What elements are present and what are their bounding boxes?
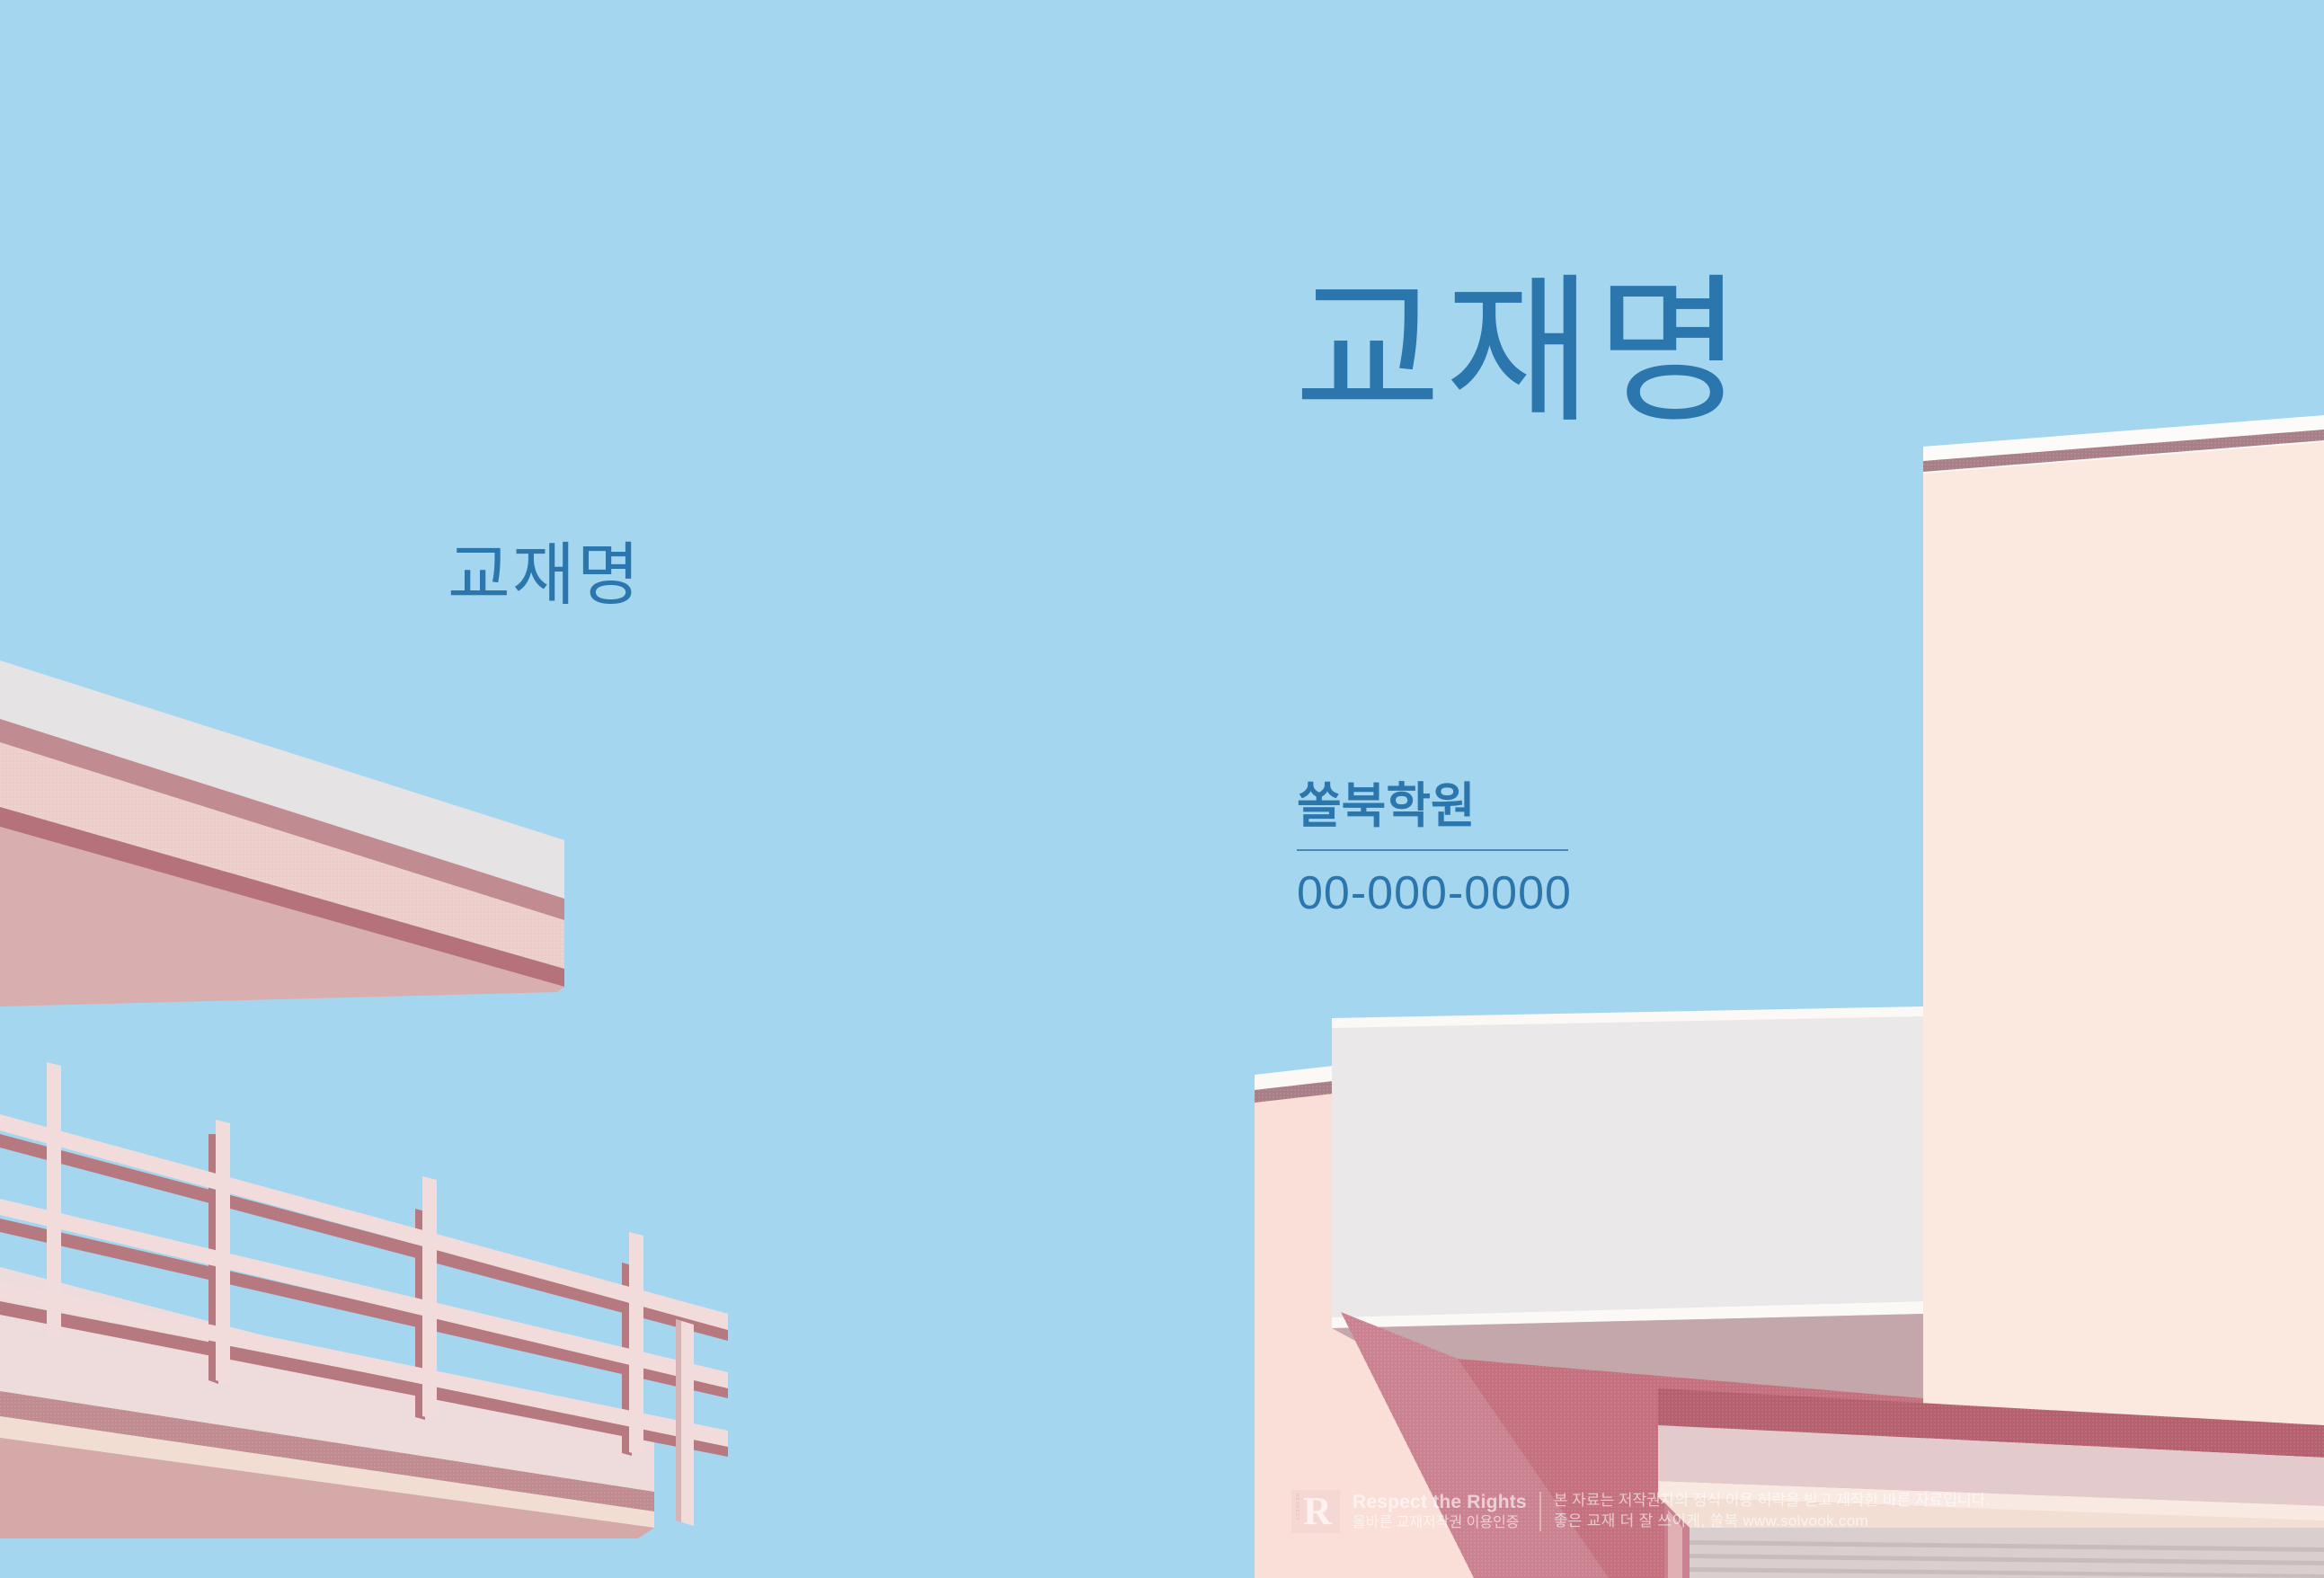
- watermark-desc-line1: 본 자료는 저작권자의 정식 이용 허락을 받고 제작한 바른 자료입니다.: [1554, 1491, 1990, 1512]
- copyright-watermark: RESPECT R Respect the Rights 올바른 교재저작권 이…: [1291, 1490, 1990, 1533]
- watermark-brand: Respect the Rights 올바른 교재저작권 이용인증: [1353, 1491, 1527, 1531]
- cover-title: 교재명: [1294, 270, 1746, 438]
- respect-the-rights-logo-icon: RESPECT R: [1291, 1490, 1340, 1533]
- logo-side-text: RESPECT: [1291, 1490, 1299, 1533]
- text-layer: 교재명 교재명 쏠북학원 00-000-0000: [0, 0, 2324, 1578]
- back-cover-title: 교재명: [448, 541, 642, 613]
- academy-divider: [1297, 849, 1568, 851]
- cover-spread-canvas: 교재명 교재명 쏠북학원 00-000-0000 RESPECT R Respe…: [0, 0, 2324, 1578]
- watermark-desc-line2: 좋은 교재 더 잘 쓰이게, 쏠북 www.solvook.com: [1554, 1512, 1990, 1532]
- watermark-brand-ko: 올바른 교재저작권 이용인증: [1353, 1514, 1527, 1532]
- watermark-brand-en: Respect the Rights: [1353, 1491, 1527, 1514]
- academy-name: 쏠북학원: [1297, 780, 1593, 833]
- academy-info-block: 쏠북학원 00-000-0000: [1297, 780, 1593, 918]
- watermark-divider: [1539, 1492, 1541, 1531]
- academy-phone: 00-000-0000: [1297, 869, 1593, 918]
- watermark-description: 본 자료는 저작권자의 정식 이용 허락을 받고 제작한 바른 자료입니다. 좋…: [1554, 1491, 1990, 1532]
- logo-letter-r: R: [1303, 1494, 1332, 1529]
